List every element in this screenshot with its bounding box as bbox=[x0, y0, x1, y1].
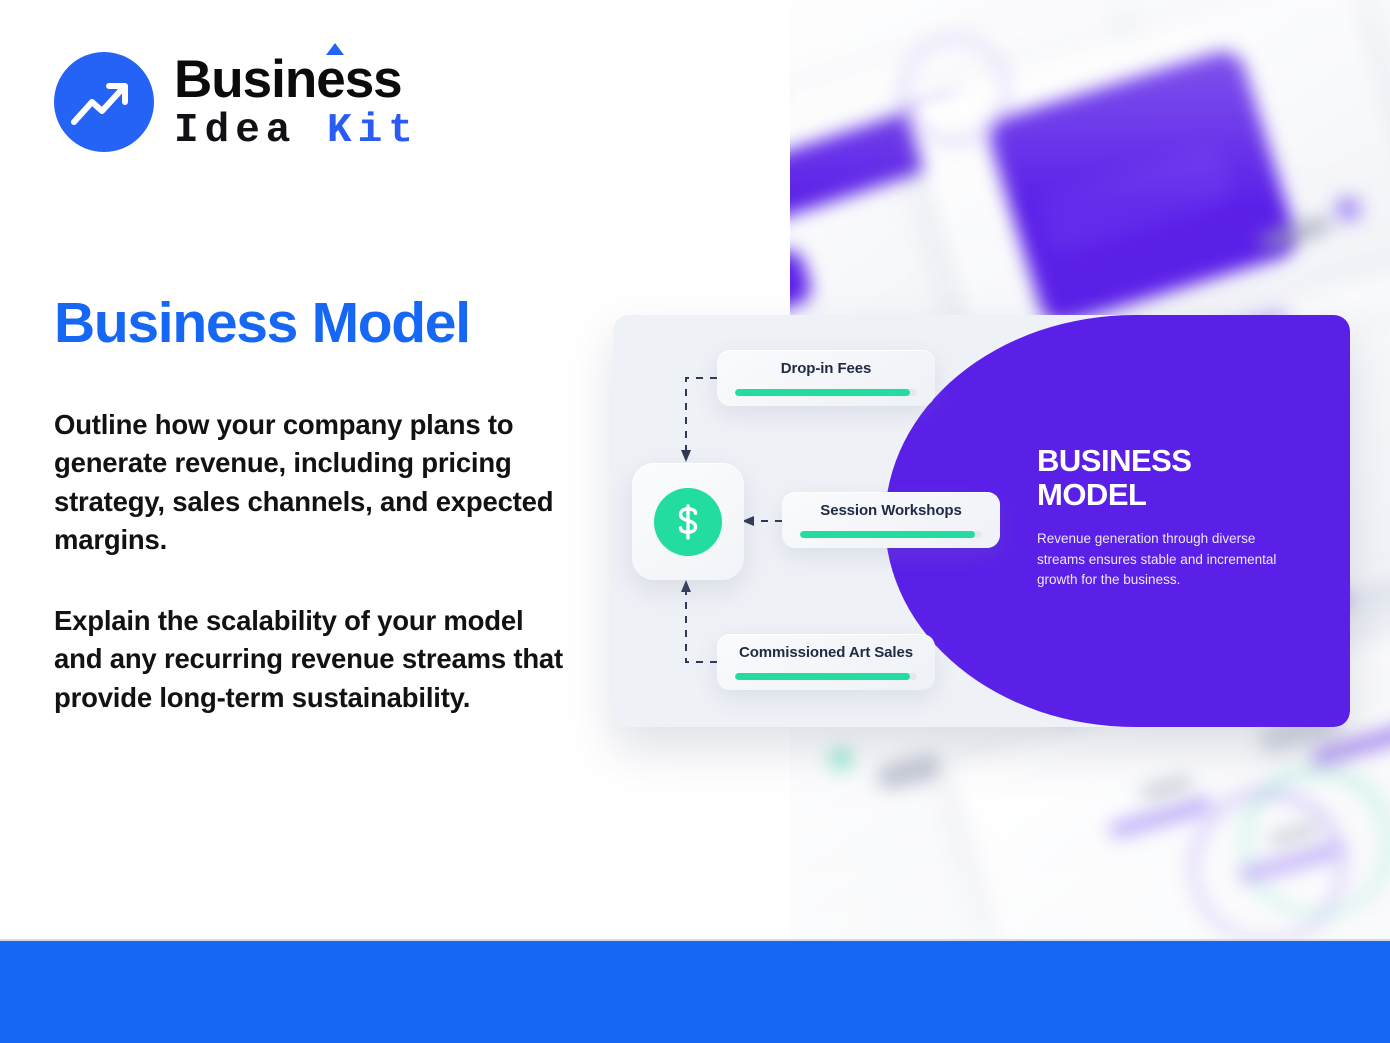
stream-label: Commissioned Art Sales bbox=[739, 644, 913, 661]
stream-progress-fill bbox=[735, 389, 910, 396]
stream-card-session-workshops[interactable]: Session Workshops bbox=[782, 492, 1000, 548]
purple-panel-title-line1: BUSINESS bbox=[1037, 444, 1307, 478]
stream-progress-track bbox=[735, 673, 917, 680]
purple-panel-title-line2: MODEL bbox=[1037, 478, 1307, 512]
brand-wordmark: Business Idea Kit bbox=[174, 53, 419, 152]
trending-up-arrow-icon bbox=[54, 52, 154, 152]
stream-label: Drop-in Fees bbox=[781, 360, 871, 377]
brand-name-primary-text: Business bbox=[174, 50, 402, 109]
content-column: Business Model Outline how your company … bbox=[54, 294, 594, 717]
brand-name-primary: Business bbox=[174, 53, 419, 106]
stream-progress-fill bbox=[800, 531, 975, 538]
brand-logo: Business Idea Kit bbox=[54, 52, 419, 152]
stream-progress-fill bbox=[735, 673, 910, 680]
description-paragraph-2: Explain the scalability of your model an… bbox=[54, 602, 579, 718]
brand-name-secondary: Idea Kit bbox=[174, 111, 419, 152]
dollar-sign-icon bbox=[654, 488, 722, 556]
brand-name-idea: Idea bbox=[174, 108, 296, 154]
purple-panel-title: BUSINESS MODEL bbox=[1037, 444, 1307, 512]
purple-panel-description: Revenue generation through diverse strea… bbox=[1037, 529, 1307, 591]
stream-label: Session Workshops bbox=[820, 502, 961, 519]
circumflex-accent-icon bbox=[326, 43, 344, 55]
stream-progress-track bbox=[735, 389, 917, 396]
slide-root: Business Idea Kit Business Model Outline… bbox=[0, 0, 1390, 1043]
purple-panel-content: BUSINESS MODEL Revenue generation throug… bbox=[1037, 444, 1307, 591]
stream-card-drop-in-fees[interactable]: Drop-in Fees bbox=[717, 350, 935, 406]
footer-band bbox=[0, 941, 1390, 1043]
stream-progress-track bbox=[800, 531, 982, 538]
description-paragraph-1: Outline how your company plans to genera… bbox=[54, 406, 579, 560]
revenue-hub-node bbox=[632, 463, 744, 580]
page-title: Business Model bbox=[54, 294, 594, 354]
brand-name-kit: Kit bbox=[327, 108, 419, 154]
stream-card-commissioned-art-sales[interactable]: Commissioned Art Sales bbox=[717, 634, 935, 690]
